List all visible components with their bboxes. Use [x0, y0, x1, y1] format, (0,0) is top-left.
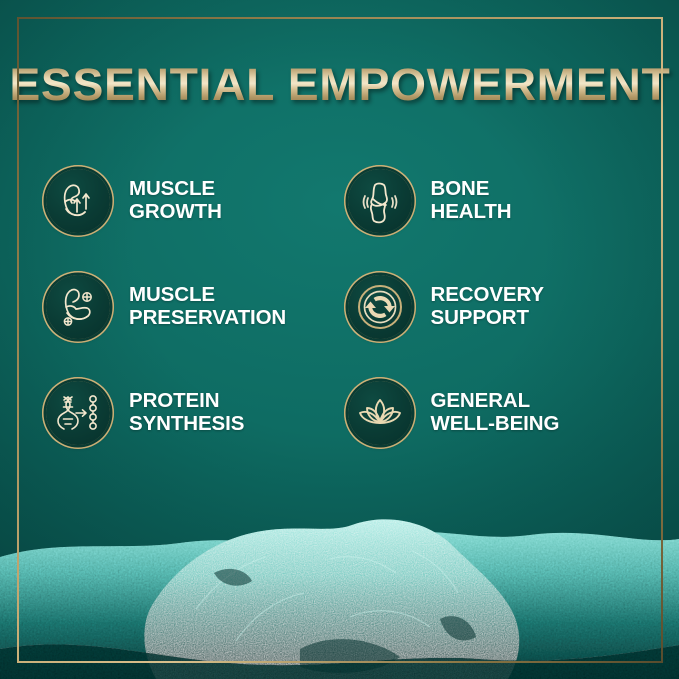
rock-formation-image — [0, 499, 679, 679]
feature-recovery-support[interactable]: RECOVERY SUPPORT — [348, 266, 640, 348]
feature-bone-health[interactable]: BONE HEALTH — [348, 160, 640, 242]
page-title-container: ESSENTIAL EMPOWERMENT — [0, 62, 679, 107]
feature-label: RECOVERY SUPPORT — [431, 284, 545, 330]
muscle-preservation-icon — [46, 275, 110, 339]
feature-label: GENERAL WELL-BEING — [431, 390, 560, 436]
feature-protein-synthesis[interactable]: PROTEIN SYNTHESIS — [46, 372, 338, 454]
lotus-wellbeing-icon — [348, 381, 412, 445]
bone-health-icon — [348, 169, 412, 233]
feature-label: BONE HEALTH — [431, 178, 512, 224]
recovery-support-icon — [348, 275, 412, 339]
feature-muscle-preservation[interactable]: MUSCLE PRESERVATION — [46, 266, 338, 348]
protein-synthesis-icon — [46, 381, 110, 445]
feature-label: MUSCLE PRESERVATION — [129, 284, 286, 330]
feature-label: MUSCLE GROWTH — [129, 178, 222, 224]
feature-label: PROTEIN SYNTHESIS — [129, 390, 244, 436]
promo-poster: ESSENTIAL EMPOWERMENT — [0, 0, 679, 679]
muscle-growth-icon — [46, 169, 110, 233]
feature-muscle-growth[interactable]: MUSCLE GROWTH — [46, 160, 338, 242]
feature-general-wellbeing[interactable]: GENERAL WELL-BEING — [348, 372, 640, 454]
page-title: ESSENTIAL EMPOWERMENT — [9, 62, 670, 107]
feature-grid: MUSCLE GROWTH BONE HEALTH — [46, 160, 639, 454]
